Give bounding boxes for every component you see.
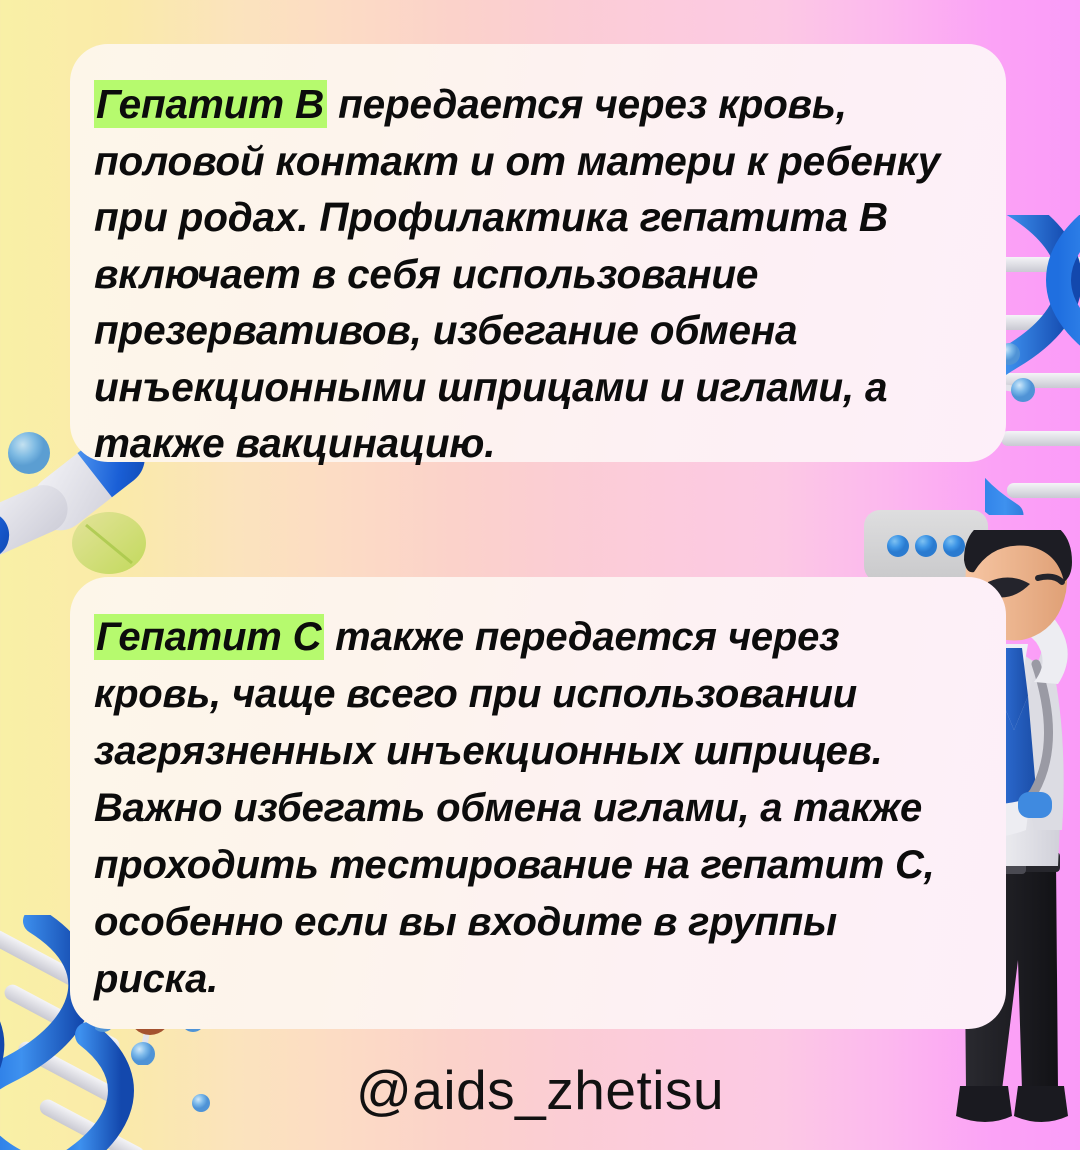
card-hepatitis-c: Гепатит С также передается через кровь, … bbox=[70, 577, 1006, 1029]
card-hepatitis-c-text: Гепатит С также передается через кровь, … bbox=[94, 609, 966, 1008]
highlight-hepatitis-b: Гепатит B bbox=[94, 80, 327, 128]
card-hepatitis-b-body: передается через кровь, половой контакт … bbox=[94, 81, 951, 466]
highlight-hepatitis-c: Гепатит С bbox=[94, 614, 324, 660]
card-hepatitis-b: Гепатит B передается через кровь, полово… bbox=[70, 44, 1006, 462]
card-hepatitis-b-text: Гепатит B передается через кровь, полово… bbox=[94, 76, 966, 472]
account-handle: @aids_zhetisu bbox=[0, 1058, 1080, 1122]
card-hepatitis-c-body: также передается через кровь, чаще всего… bbox=[94, 615, 946, 1001]
